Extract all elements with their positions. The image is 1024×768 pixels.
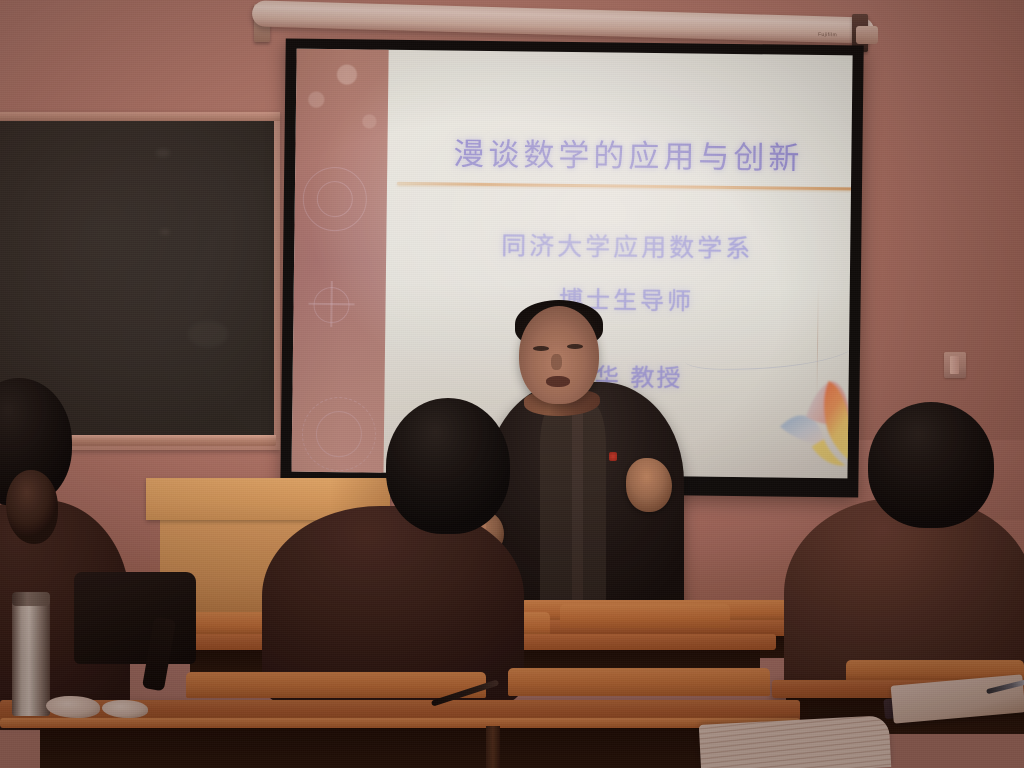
roller-endcap — [856, 26, 878, 44]
audience-right-head — [868, 402, 994, 528]
lecture-hall-scene: Fujifilm 漫谈数学的应用与创新 同济大学应用数学系 博士生导师 志华 教… — [0, 0, 1024, 768]
chalk-smudge — [160, 229, 170, 235]
desk-row-front-panel-right — [508, 668, 770, 696]
desk-leg — [486, 726, 500, 768]
chalk-smudge — [156, 149, 170, 157]
paper-stack[interactable] — [699, 715, 891, 768]
desk-row-front-edge — [0, 718, 800, 728]
presenter-eye-left — [533, 346, 549, 351]
thermos-bottle[interactable] — [12, 596, 50, 716]
presenter-eye-right — [567, 344, 583, 349]
presenter-mouth — [546, 376, 570, 387]
audience-center-head — [386, 398, 510, 534]
audience-left-hand — [6, 470, 58, 544]
desk-row-middle-panel-right — [560, 604, 730, 628]
presenter-head — [519, 306, 599, 404]
desk-row-front-panel-left — [186, 672, 486, 698]
presenter-nose — [551, 354, 562, 370]
slide-subtitle-affiliation: 同济大学应用数学系 — [392, 225, 853, 267]
matlab-membrane-logo — [772, 372, 853, 473]
light-switch[interactable] — [944, 352, 966, 378]
shoulder-bag[interactable] — [74, 572, 196, 664]
blackboard-top-rail — [0, 112, 280, 121]
roller-brand-label: Fujifilm — [818, 32, 837, 39]
chalk-smudge — [188, 321, 228, 347]
slide-decorative-strip — [291, 49, 388, 473]
presenter-hand-right — [626, 458, 672, 512]
thermos-cap[interactable] — [12, 592, 50, 606]
slide-subtitle-role: 博士生导师 — [391, 278, 852, 319]
slide-title-rule — [397, 182, 853, 191]
strip-shading — [291, 49, 388, 473]
desk-row-front-under — [40, 728, 760, 768]
presenter-lapel-badge — [609, 452, 617, 461]
presenter-cardigan-placket — [572, 408, 583, 608]
slide-title: 漫谈数学的应用与创新 — [393, 128, 852, 179]
